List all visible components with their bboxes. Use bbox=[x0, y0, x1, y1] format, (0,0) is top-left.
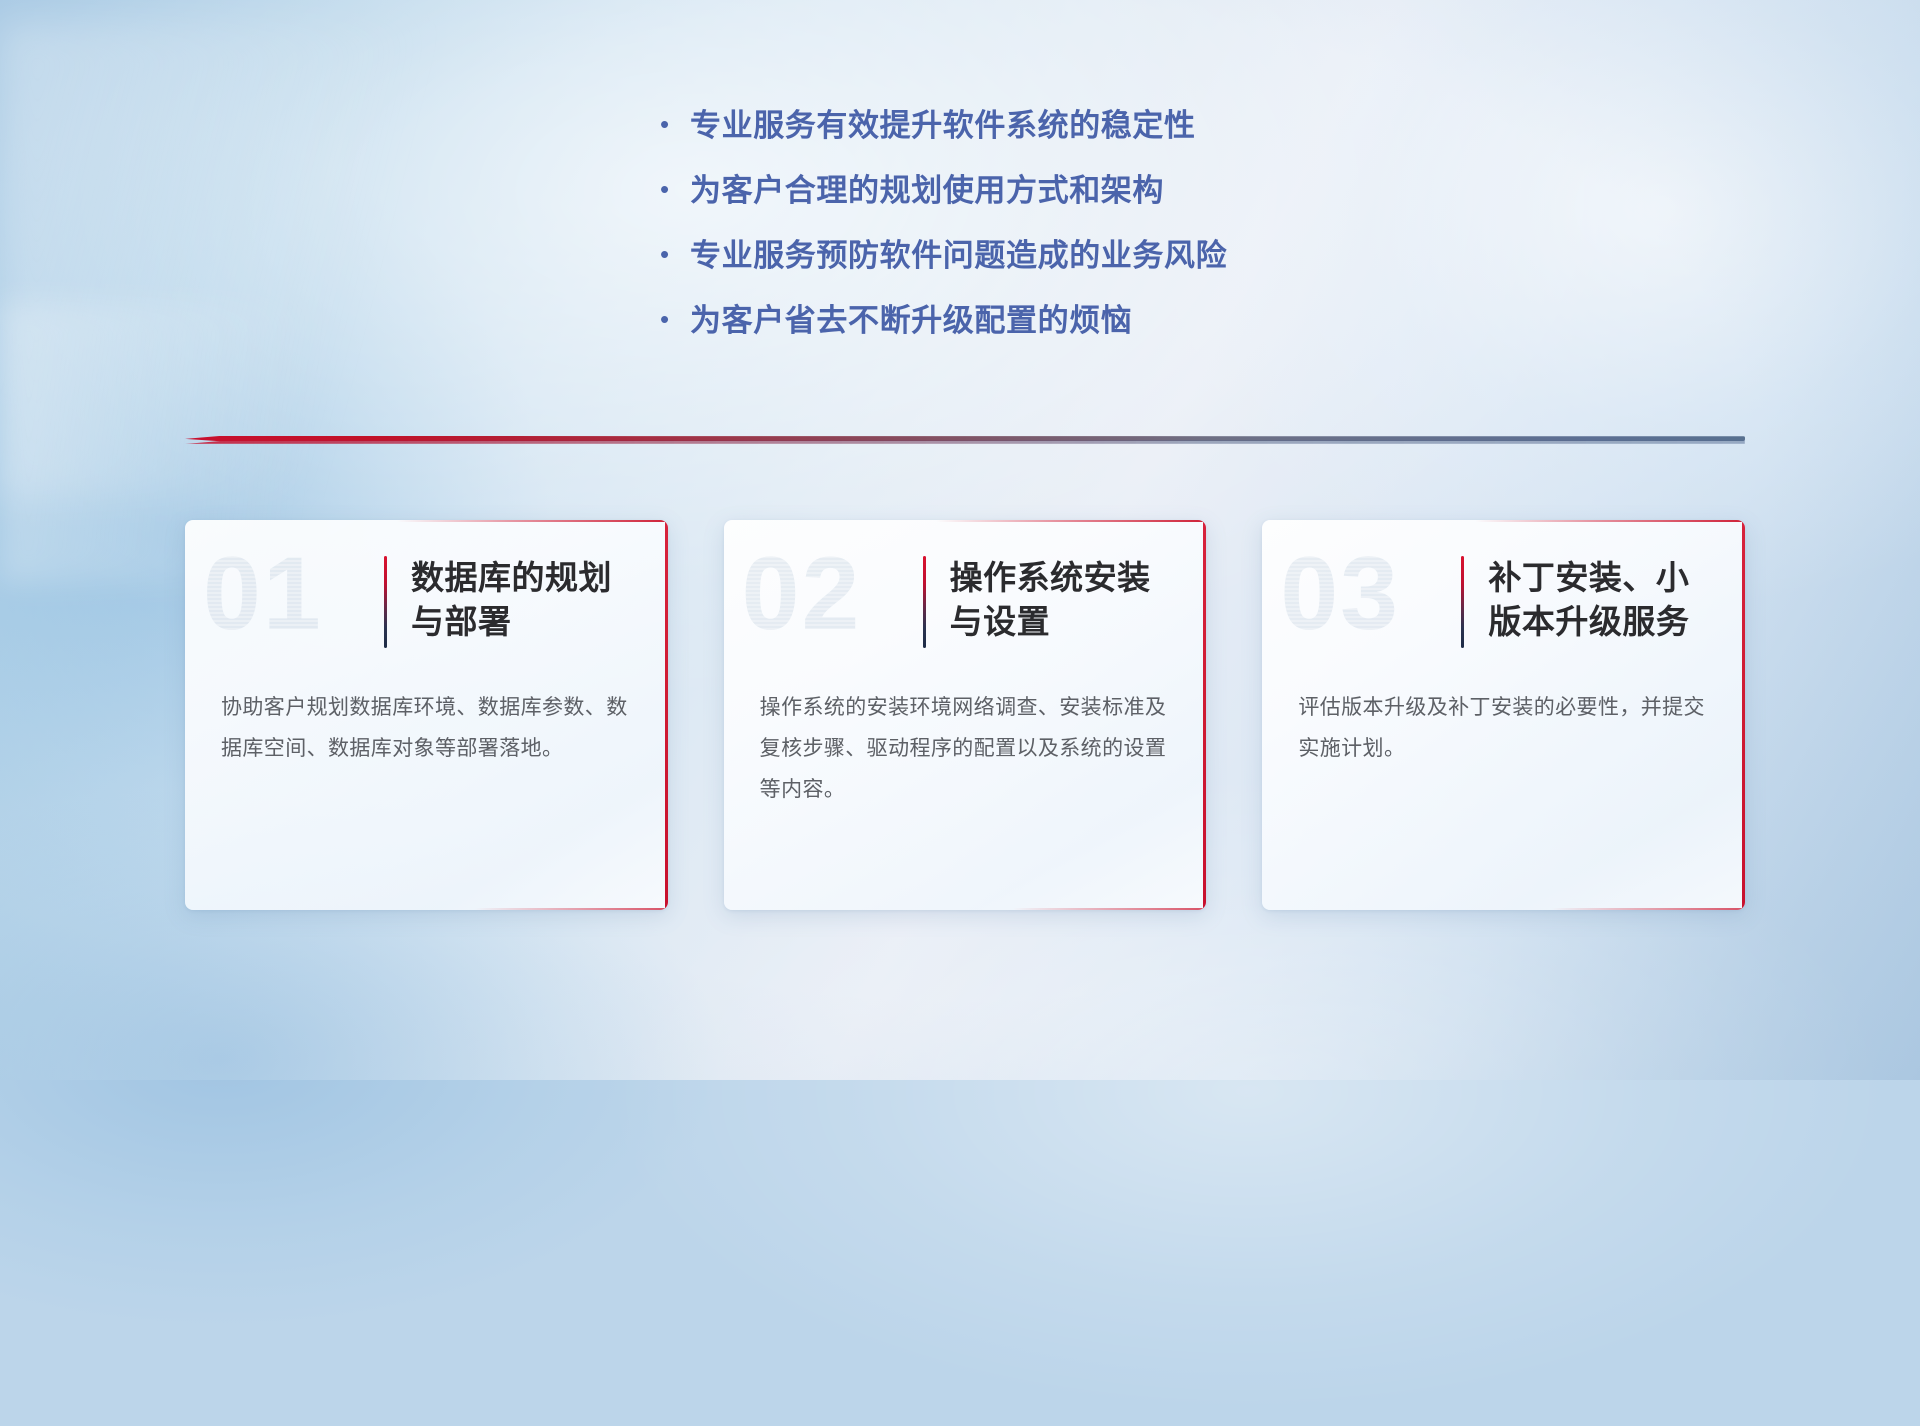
card-bottom-accent-line bbox=[1013, 908, 1206, 910]
service-card-02[interactable]: 02 02 操作系统安装与设置 操作系统的安装环境网络调查、安装标准及复核步骤、… bbox=[724, 520, 1207, 910]
divider-line-shadow bbox=[185, 440, 1745, 444]
card-bottom-accent-line bbox=[475, 908, 668, 910]
bullet-glyph: • bbox=[660, 241, 690, 267]
card-title-divider-bar bbox=[923, 556, 926, 648]
list-item: • 为客户省去不断升级配置的烦恼 bbox=[660, 295, 1420, 360]
bullet-point-icon: • bbox=[660, 111, 690, 137]
bullet-point-icon: • bbox=[660, 176, 690, 202]
service-card-row: 01 01 数据库的规划与部署 协助客户规划数据库环境、数据库参数、数据库空间、… bbox=[185, 520, 1745, 930]
bullet-text: 为客户合理的规划使用方式和架构 bbox=[690, 165, 1164, 210]
benefits-bullet-list: • 专业服务有效提升软件系统的稳定性 • 为客户合理的规划使用方式和架构 • 专… bbox=[660, 100, 1420, 360]
card-body-text: 协助客户规划数据库环境、数据库参数、数据库空间、数据库对象等部署落地。 bbox=[185, 688, 668, 770]
card-number-watermark-base: 01 bbox=[203, 542, 323, 646]
service-card-01[interactable]: 01 01 数据库的规划与部署 协助客户规划数据库环境、数据库参数、数据库空间、… bbox=[185, 520, 668, 910]
card-title: 操作系统安装与设置 bbox=[950, 556, 1173, 644]
bullet-text: 为客户省去不断升级配置的烦恼 bbox=[690, 295, 1132, 340]
card-header: 03 03 补丁安装、小版本升级服务 bbox=[1262, 520, 1745, 688]
list-item: • 为客户合理的规划使用方式和架构 bbox=[660, 165, 1420, 230]
card-title-group: 补丁安装、小版本升级服务 bbox=[1461, 556, 1711, 648]
card-body-text: 操作系统的安装环境网络调查、安装标准及复核步骤、驱动程序的配置以及系统的设置等内… bbox=[724, 688, 1207, 811]
card-title: 数据库的规划与部署 bbox=[411, 556, 634, 644]
bullet-glyph: • bbox=[660, 176, 690, 202]
bullet-point-icon: • bbox=[660, 241, 690, 267]
card-number-watermark: 01 bbox=[203, 542, 323, 646]
card-title-divider-bar bbox=[384, 556, 387, 648]
card-title: 补丁安装、小版本升级服务 bbox=[1488, 556, 1711, 644]
bullet-glyph: • bbox=[660, 111, 690, 137]
card-body-text: 评估版本升级及补丁安装的必要性，并提交实施计划。 bbox=[1262, 688, 1745, 770]
service-card-03[interactable]: 03 03 补丁安装、小版本升级服务 评估版本升级及补丁安装的必要性，并提交实施… bbox=[1262, 520, 1745, 910]
bullet-text: 专业服务预防软件问题造成的业务风险 bbox=[690, 230, 1227, 275]
card-number-watermark-base: 02 bbox=[742, 542, 862, 646]
card-title-group: 操作系统安装与设置 bbox=[923, 556, 1173, 648]
bullet-point-icon: • bbox=[660, 306, 690, 332]
card-header: 01 01 数据库的规划与部署 bbox=[185, 520, 668, 688]
card-number-watermark: 03 bbox=[1280, 542, 1400, 646]
bullet-glyph: • bbox=[660, 306, 690, 332]
card-number-watermark-base: 03 bbox=[1280, 542, 1400, 646]
section-divider bbox=[185, 430, 1745, 448]
list-item: • 专业服务有效提升软件系统的稳定性 bbox=[660, 100, 1420, 165]
card-header: 02 02 操作系统安装与设置 bbox=[724, 520, 1207, 688]
card-number-watermark: 02 bbox=[742, 542, 862, 646]
list-item: • 专业服务预防软件问题造成的业务风险 bbox=[660, 230, 1420, 295]
card-bottom-accent-line bbox=[1552, 908, 1745, 910]
card-title-group: 数据库的规划与部署 bbox=[384, 556, 634, 648]
card-title-divider-bar bbox=[1461, 556, 1464, 648]
bullet-text: 专业服务有效提升软件系统的稳定性 bbox=[690, 100, 1196, 145]
